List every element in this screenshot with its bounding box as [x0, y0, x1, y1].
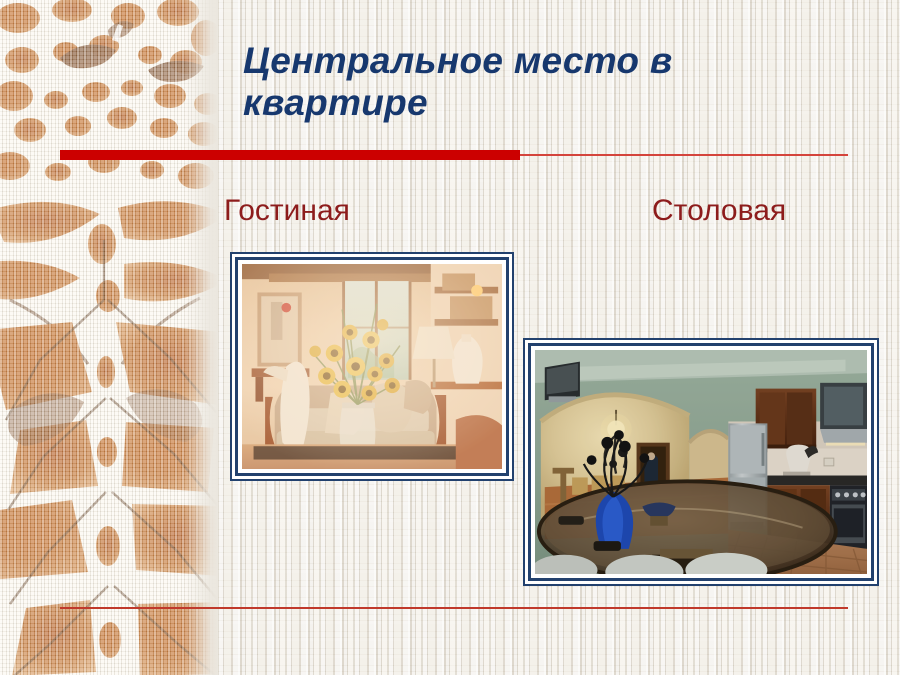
caption-dining-room: Столовая: [652, 194, 786, 228]
caption-living-room: Гостиная: [224, 194, 350, 228]
photo-dining-room: [535, 350, 867, 574]
giraffe-fade-edge: [184, 0, 218, 675]
photo-inner-border-living-room: [235, 257, 509, 476]
presentation-slide: Центральное место в квартире Гостиная Ст…: [0, 0, 900, 675]
slide-title: Центральное место в квартире: [243, 40, 863, 124]
photo-frame-dining-room[interactable]: [523, 338, 879, 586]
title-thick-rule: [60, 150, 520, 160]
photo-living-room: [242, 264, 502, 469]
giraffe-print-border: [0, 0, 218, 675]
photo-inner-border-dining-room: [528, 343, 874, 581]
photo-frame-living-room[interactable]: [230, 252, 514, 481]
footer-thin-rule: [60, 607, 848, 609]
